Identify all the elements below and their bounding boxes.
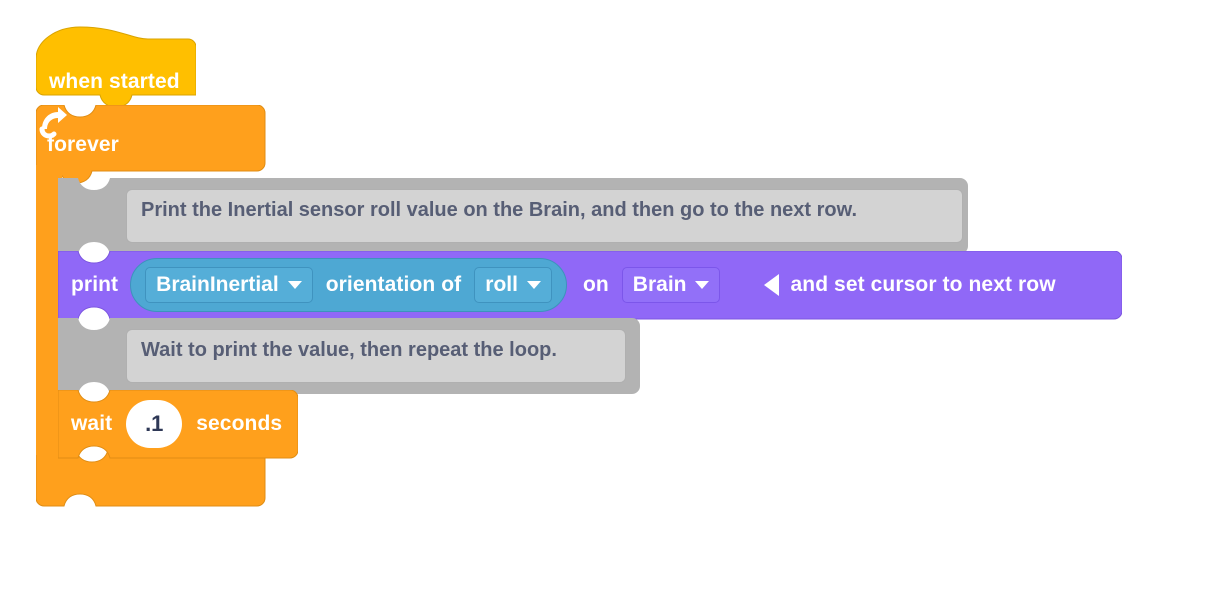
comment-block-2[interactable]: Wait to print the value, then repeat the… (58, 318, 640, 394)
wait-block-row: wait .1 seconds (58, 390, 282, 458)
chevron-down-icon (527, 281, 541, 289)
chevron-down-icon (288, 281, 302, 289)
block-when-started[interactable]: when started (36, 25, 196, 110)
chevron-down-icon (695, 281, 709, 289)
when-started-shape (36, 25, 196, 110)
print-block-row: print BrainInertial orientation of roll … (58, 251, 1056, 319)
comment-1-text: Print the Inertial sensor roll value on … (141, 199, 857, 221)
axis-dropdown-value: roll (485, 273, 518, 297)
comment-2-text: Wait to print the value, then repeat the… (141, 339, 557, 361)
wait-label: wait (71, 412, 112, 436)
seconds-label: seconds (196, 412, 282, 436)
sensor-dropdown[interactable]: BrainInertial (145, 267, 313, 303)
when-started-label: when started (49, 70, 180, 94)
orientation-of-label: orientation of (326, 273, 462, 297)
on-label: on (583, 273, 609, 297)
wait-seconds-value: .1 (145, 411, 163, 437)
next-row-label: and set cursor to next row (790, 273, 1055, 297)
device-dropdown[interactable]: Brain (622, 267, 721, 303)
print-label: print (71, 273, 118, 297)
loop-arrow-icon (36, 105, 70, 139)
comment-2-text-box: Wait to print the value, then repeat the… (126, 329, 626, 383)
block-workspace-canvas[interactable]: when started forever Print the Inertial … (0, 0, 1210, 602)
sensor-dropdown-value: BrainInertial (156, 273, 279, 297)
block-print[interactable]: print BrainInertial orientation of roll … (58, 251, 1122, 325)
wait-seconds-input[interactable]: .1 (126, 400, 182, 448)
axis-dropdown[interactable]: roll (474, 267, 552, 303)
comment-1-text-box: Print the Inertial sensor roll value on … (126, 189, 963, 243)
reporter-inertial-orientation[interactable]: BrainInertial orientation of roll (130, 258, 567, 312)
triangle-left-icon (764, 274, 779, 296)
device-dropdown-value: Brain (633, 273, 687, 297)
block-wait[interactable]: wait .1 seconds (58, 390, 298, 464)
comment-block-1[interactable]: Print the Inertial sensor roll value on … (58, 178, 968, 254)
